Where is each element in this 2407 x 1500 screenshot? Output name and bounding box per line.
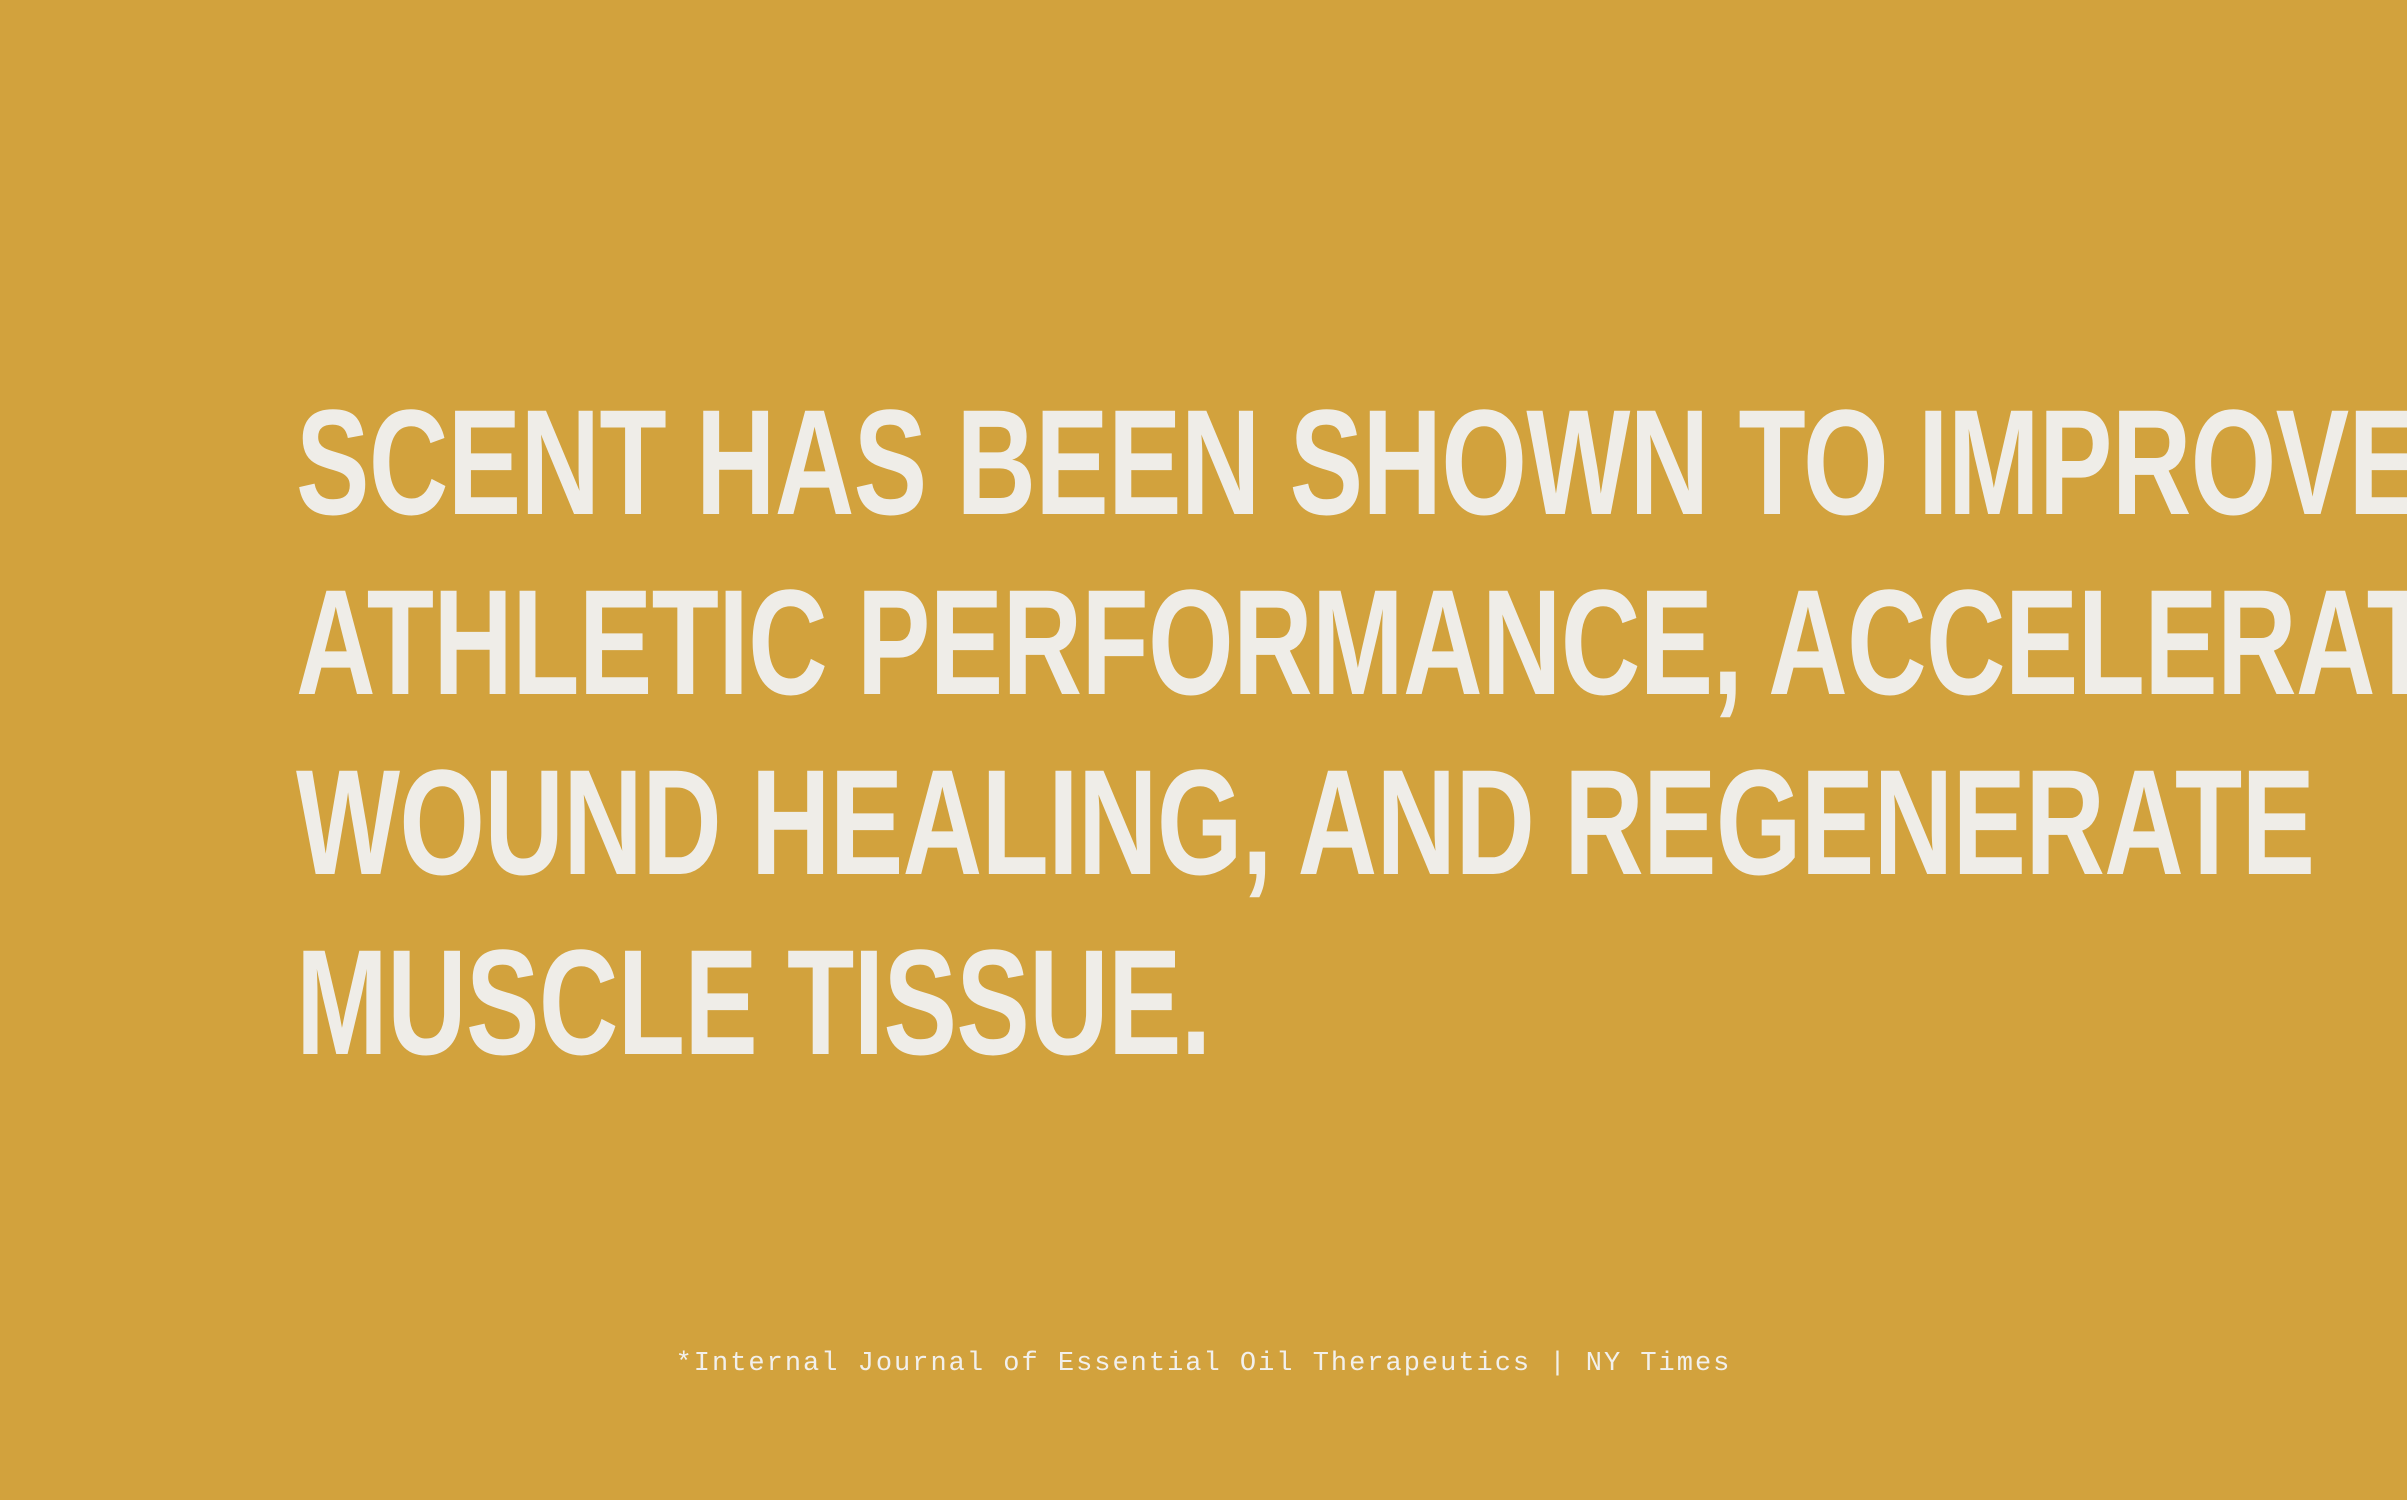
headline-block: SCENT HAS BEEN SHOWN TO IMPROVE ATHLETIC… xyxy=(296,372,2196,1092)
headline-line-4: MUSCLE TISSUE. xyxy=(296,912,1693,1092)
headline-line-2: ATHLETIC PERFORMANCE, ACCELERATE xyxy=(296,552,1693,732)
headline-line-1: SCENT HAS BEEN SHOWN TO IMPROVE xyxy=(296,372,1693,552)
headline-line-3: WOUND HEALING, AND REGENERATE xyxy=(296,732,1693,912)
slide-canvas: SCENT HAS BEEN SHOWN TO IMPROVE ATHLETIC… xyxy=(0,0,2407,1500)
source-footnote: *Internal Journal of Essential Oil Thera… xyxy=(0,1344,2407,1384)
